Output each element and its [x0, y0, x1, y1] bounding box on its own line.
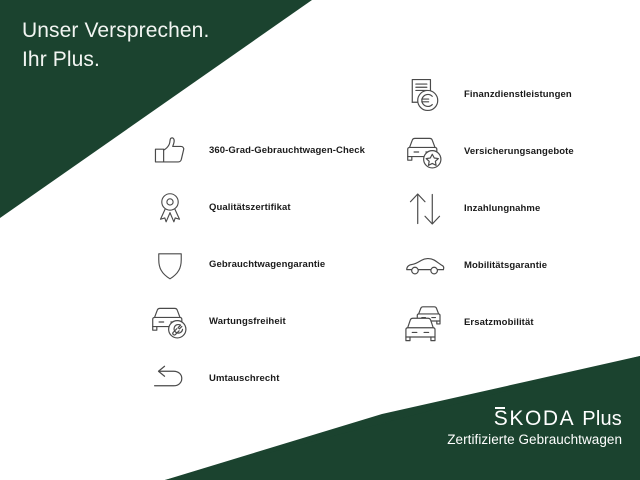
- shield-icon: [145, 240, 195, 290]
- feature-item-check: 360-Grad-Gebrauchtwagen-Check: [145, 122, 385, 179]
- feature-item-replacement-mobility: Ersatzmobilität: [400, 294, 630, 351]
- document-euro-icon: [400, 70, 450, 120]
- feature-item-trade-in: Inzahlungnahme: [400, 180, 630, 237]
- feature-item-financial-services: Finanzdienstleistungen: [400, 66, 630, 123]
- caron-accent-icon: [495, 407, 505, 410]
- feature-item-return-right: Umtauschrecht: [145, 350, 385, 407]
- feature-list-left: 360-Grad-Gebrauchtwagen-Check Qualitätsz…: [145, 122, 385, 407]
- feature-label: Wartungsfreiheit: [209, 316, 286, 327]
- feature-item-mobility-guarantee: Mobilitätsgarantie: [400, 237, 630, 294]
- car-side-icon: [400, 241, 450, 291]
- feature-item-maintenance: Wartungsfreiheit: [145, 293, 385, 350]
- return-arrow-icon: [145, 354, 195, 404]
- thumbs-up-icon: [145, 126, 195, 176]
- feature-label: Umtauschrecht: [209, 373, 279, 384]
- car-wrench-icon: [145, 297, 195, 347]
- feature-list-right: Finanzdienstleistungen Versicherungsange…: [400, 66, 630, 351]
- feature-item-quality-certificate: Qualitätszertifikat: [145, 179, 385, 236]
- promo-banner: Unser Versprechen.Ihr Plus. 360-Grad-Geb…: [0, 0, 640, 480]
- brand-tagline: Zertifizierte Gebrauchtwagen: [447, 433, 622, 447]
- two-cars-icon: [400, 298, 450, 348]
- brand-plus-text: Plus: [582, 409, 622, 429]
- feature-label: 360-Grad-Gebrauchtwagen-Check: [209, 145, 365, 156]
- headline-line-1: Unser Versprechen.: [22, 19, 209, 42]
- skoda-wordmark: SKODA: [494, 408, 576, 429]
- feature-label: Finanzdienstleistungen: [464, 89, 572, 100]
- award-rosette-icon: [145, 183, 195, 233]
- feature-label: Ersatzmobilität: [464, 317, 534, 328]
- up-down-arrows-icon: [400, 184, 450, 234]
- feature-label: Mobilitätsgarantie: [464, 260, 547, 271]
- skoda-wordmark-text: SKODA: [494, 407, 576, 430]
- headline: Unser Versprechen.Ihr Plus.: [22, 16, 209, 74]
- brand-wordmark-row: SKODA Plus: [447, 408, 622, 429]
- brand-lockup: SKODA Plus Zertifizierte Gebrauchtwagen: [447, 408, 622, 447]
- feature-label: Gebrauchtwagengarantie: [209, 259, 325, 270]
- feature-item-warranty: Gebrauchtwagengarantie: [145, 236, 385, 293]
- feature-label: Versicherungsangebote: [464, 146, 574, 157]
- feature-item-insurance: Versicherungsangebote: [400, 123, 630, 180]
- headline-line-2: Ihr Plus.: [22, 48, 100, 71]
- feature-label: Qualitätszertifikat: [209, 202, 291, 213]
- feature-label: Inzahlungnahme: [464, 203, 540, 214]
- car-star-icon: [400, 127, 450, 177]
